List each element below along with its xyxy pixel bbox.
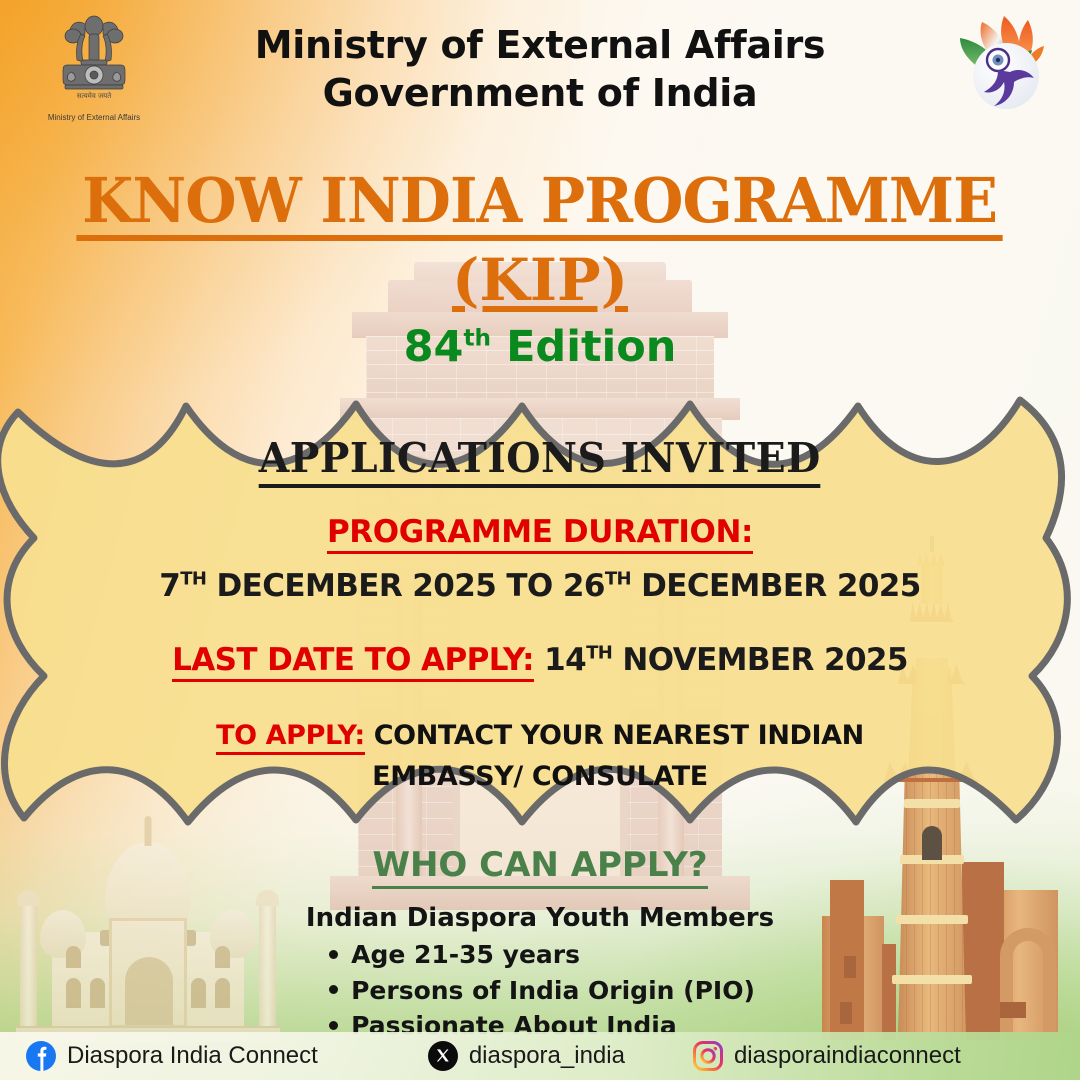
applications-invited-heading: APPLICATIONS INVITED xyxy=(259,434,821,488)
programme-abbreviation: (KIP) xyxy=(452,247,628,314)
instagram-icon[interactable] xyxy=(693,1041,723,1071)
twitter-x-handle[interactable]: diaspora_india xyxy=(469,1042,625,1070)
to-apply-text: CONTACT YOUR NEAREST INDIAN EMBASSY/ CON… xyxy=(372,720,864,792)
bullet-icon xyxy=(329,985,338,994)
programme-duration-label: PROGRAMME DURATION: xyxy=(327,514,753,554)
government-line: Government of India xyxy=(0,70,1080,118)
last-date-value-day: 14 xyxy=(544,642,586,678)
eligibility-section: WHO CAN APPLY? Indian Diaspora Youth Mem… xyxy=(0,845,1080,1044)
last-date-row: LAST DATE TO APPLY: 14TH NOVEMBER 2025 xyxy=(172,642,908,678)
edition-label: 84th Edition xyxy=(0,322,1080,372)
list-item: Persons of India Origin (PIO) xyxy=(325,973,755,1009)
x-twitter-icon[interactable] xyxy=(428,1041,458,1071)
programme-duration-row: PROGRAMME DURATION: xyxy=(327,514,753,550)
bullet-icon xyxy=(329,950,338,959)
ministry-line: Ministry of External Affairs xyxy=(0,22,1080,70)
instagram-handle-item[interactable]: diasporaindiaconnect xyxy=(693,1041,961,1071)
ministry-header: Ministry of External Affairs Government … xyxy=(0,22,1080,118)
bullet-icon xyxy=(329,1021,338,1030)
facebook-handle-item[interactable]: Diaspora India Connect xyxy=(26,1041,318,1071)
programme-title: KNOW INDIA PROGRAMME xyxy=(77,168,1003,241)
to-apply-label: TO APPLY: xyxy=(216,720,365,755)
poster-title-block: KNOW INDIA PROGRAMME (KIP) 84th Edition xyxy=(0,168,1080,372)
programme-duration-dates: 7TH DECEMBER 2025 TO 26TH DECEMBER 2025 xyxy=(159,568,921,604)
pravasi-bharatiya-lotus-logo-icon xyxy=(944,6,1064,126)
eligibility-heading: WHO CAN APPLY? xyxy=(372,845,707,889)
eligibility-list: Age 21-35 years Persons of India Origin … xyxy=(325,937,755,1044)
twitter-x-handle-item[interactable]: diaspora_india xyxy=(428,1041,625,1071)
facebook-icon[interactable] xyxy=(26,1041,56,1071)
kip-poster: सत्यमेव जयते Ministry of External Affair… xyxy=(0,0,1080,1080)
instagram-handle[interactable]: diasporaindiaconnect xyxy=(734,1042,961,1070)
social-footer: Diaspora India Connect diaspora_india xyxy=(0,1032,1080,1080)
eligibility-subtitle: Indian Diaspora Youth Members xyxy=(0,903,1080,933)
list-item: Age 21-35 years xyxy=(325,937,755,973)
to-apply-row: TO APPLY: CONTACT YOUR NEAREST INDIAN EM… xyxy=(140,716,940,797)
announcement-banner: APPLICATIONS INVITED PROGRAMME DURATION:… xyxy=(0,376,1080,846)
facebook-handle[interactable]: Diaspora India Connect xyxy=(67,1042,318,1070)
last-date-label: LAST DATE TO APPLY: xyxy=(172,642,534,682)
